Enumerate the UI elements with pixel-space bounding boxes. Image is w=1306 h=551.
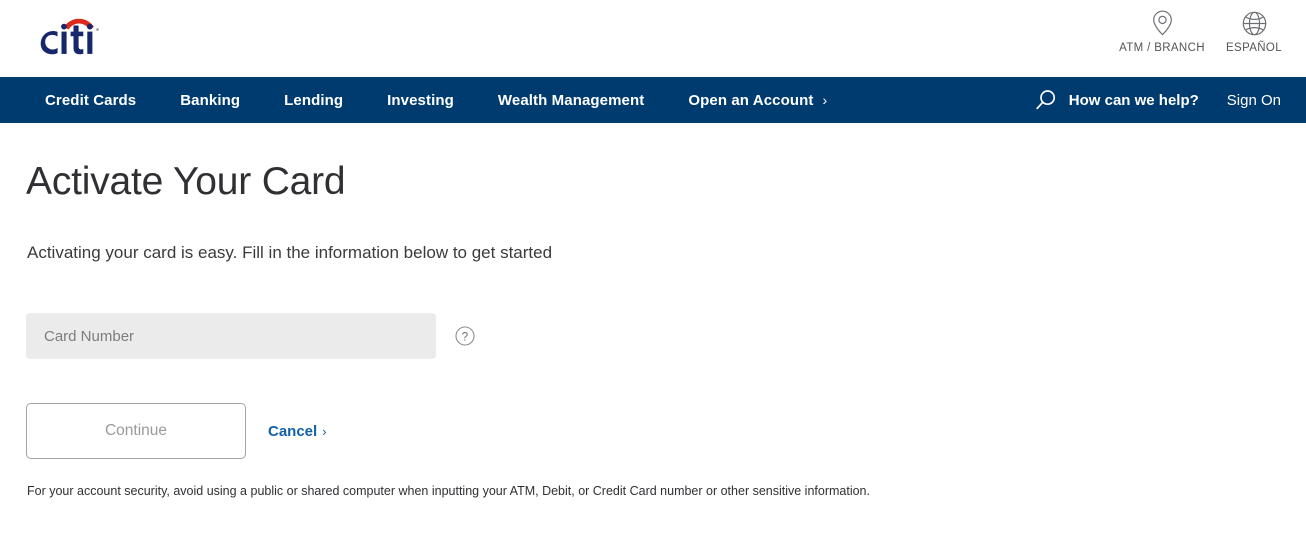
svg-text:?: ? (462, 331, 468, 343)
question-mark-circle-icon[interactable]: ? (455, 326, 475, 346)
nav-item-how-can-we-help[interactable]: How can we help? (1069, 92, 1199, 109)
continue-button[interactable]: Continue (26, 403, 246, 459)
nav-item-wealth-management[interactable]: Wealth Management (498, 92, 644, 109)
page-title: Activate Your Card (26, 161, 345, 204)
nav-item-investing[interactable]: Investing (387, 92, 454, 109)
chevron-right-icon: › (322, 424, 326, 439)
nav-primary-links: Credit Cards Banking Lending Investing W… (0, 92, 827, 109)
form-actions: Continue Cancel › (26, 403, 327, 459)
location-pin-icon (1152, 10, 1173, 36)
main-navigation: Credit Cards Banking Lending Investing W… (0, 77, 1306, 123)
nav-item-open-an-account[interactable]: Open an Account › (688, 92, 827, 109)
top-utility-bar: ATM / BRANCH ESPAÑOL (0, 0, 1306, 77)
cancel-link[interactable]: Cancel › (268, 423, 327, 440)
citi-logo[interactable] (40, 14, 114, 56)
globe-icon (1242, 10, 1267, 36)
utility-link-espanol[interactable]: ESPAÑOL (1208, 10, 1300, 54)
chevron-right-icon: › (822, 92, 827, 108)
card-number-field-row: ? (26, 313, 475, 359)
page-root: ATM / BRANCH ESPAÑOL Credit Cards (0, 0, 1306, 551)
search-icon[interactable] (1035, 89, 1057, 111)
security-note: For your account security, avoid using a… (27, 484, 870, 498)
utility-link-label: ESPAÑOL (1226, 42, 1282, 54)
nav-secondary-links: How can we help? Sign On (1035, 89, 1306, 111)
nav-item-banking[interactable]: Banking (180, 92, 240, 109)
cancel-label: Cancel (268, 423, 317, 440)
page-subtitle: Activating your card is easy. Fill in th… (27, 243, 552, 263)
utility-link-atm-branch[interactable]: ATM / BRANCH (1116, 10, 1208, 54)
card-number-input[interactable] (26, 313, 436, 359)
utility-link-label: ATM / BRANCH (1119, 42, 1205, 54)
nav-item-credit-cards[interactable]: Credit Cards (45, 92, 136, 109)
utility-links: ATM / BRANCH ESPAÑOL (1116, 10, 1306, 54)
nav-item-sign-on[interactable]: Sign On (1227, 92, 1281, 109)
open-account-label: Open an Account (688, 92, 813, 109)
nav-item-lending[interactable]: Lending (284, 92, 343, 109)
citi-logo-icon (40, 14, 114, 56)
